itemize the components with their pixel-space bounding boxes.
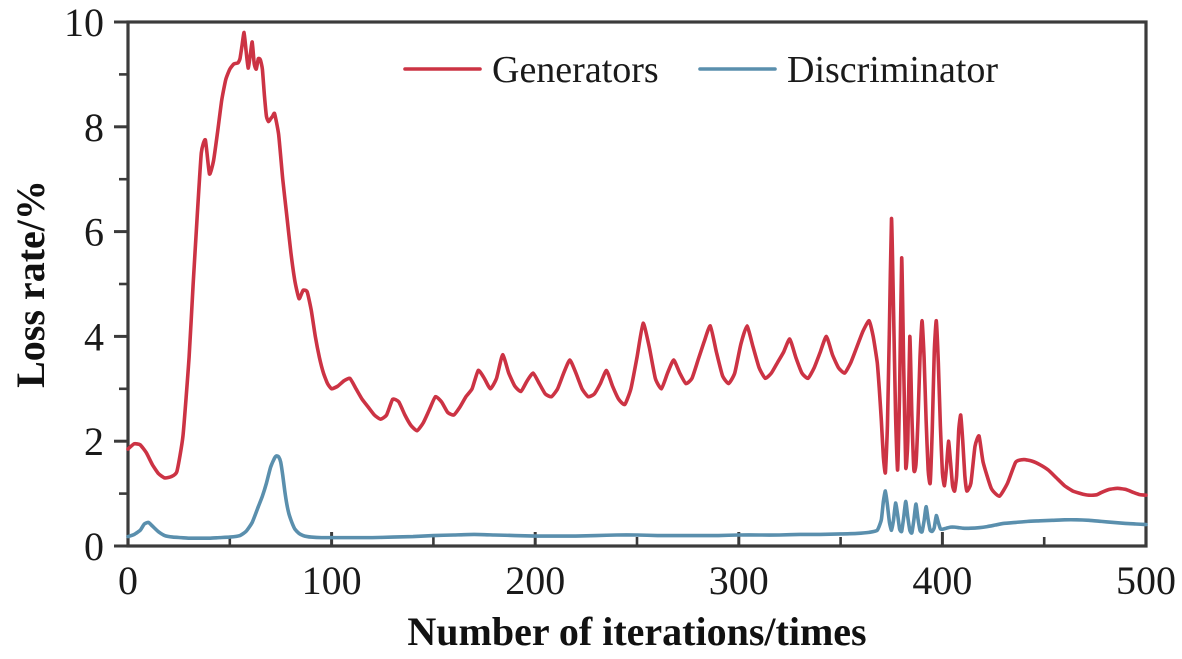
y-axis-title: Loss rate/%	[8, 180, 53, 388]
x-tick-label: 200	[505, 558, 565, 603]
loss-rate-chart: 0246810 0100200300400500 Loss rate/% Num…	[0, 0, 1182, 659]
x-tick-label: 300	[709, 558, 769, 603]
y-tick-label: 2	[84, 419, 104, 464]
x-tick-label: 100	[302, 558, 362, 603]
y-tick-label: 10	[64, 0, 104, 45]
chart-background	[0, 0, 1182, 659]
chart-canvas: 0246810 0100200300400500 Loss rate/% Num…	[0, 0, 1182, 659]
y-tick-label: 8	[84, 105, 104, 150]
y-tick-label: 4	[84, 314, 104, 359]
y-tick-label: 0	[84, 524, 104, 569]
x-tick-label: 0	[118, 558, 138, 603]
x-tick-label: 500	[1116, 558, 1176, 603]
legend-label-generators: Generators	[492, 49, 659, 91]
y-tick-label: 6	[84, 210, 104, 255]
x-tick-label: 400	[912, 558, 972, 603]
legend-label-discriminator: Discriminator	[787, 49, 998, 91]
x-axis-title: Number of iterations/times	[407, 609, 866, 654]
